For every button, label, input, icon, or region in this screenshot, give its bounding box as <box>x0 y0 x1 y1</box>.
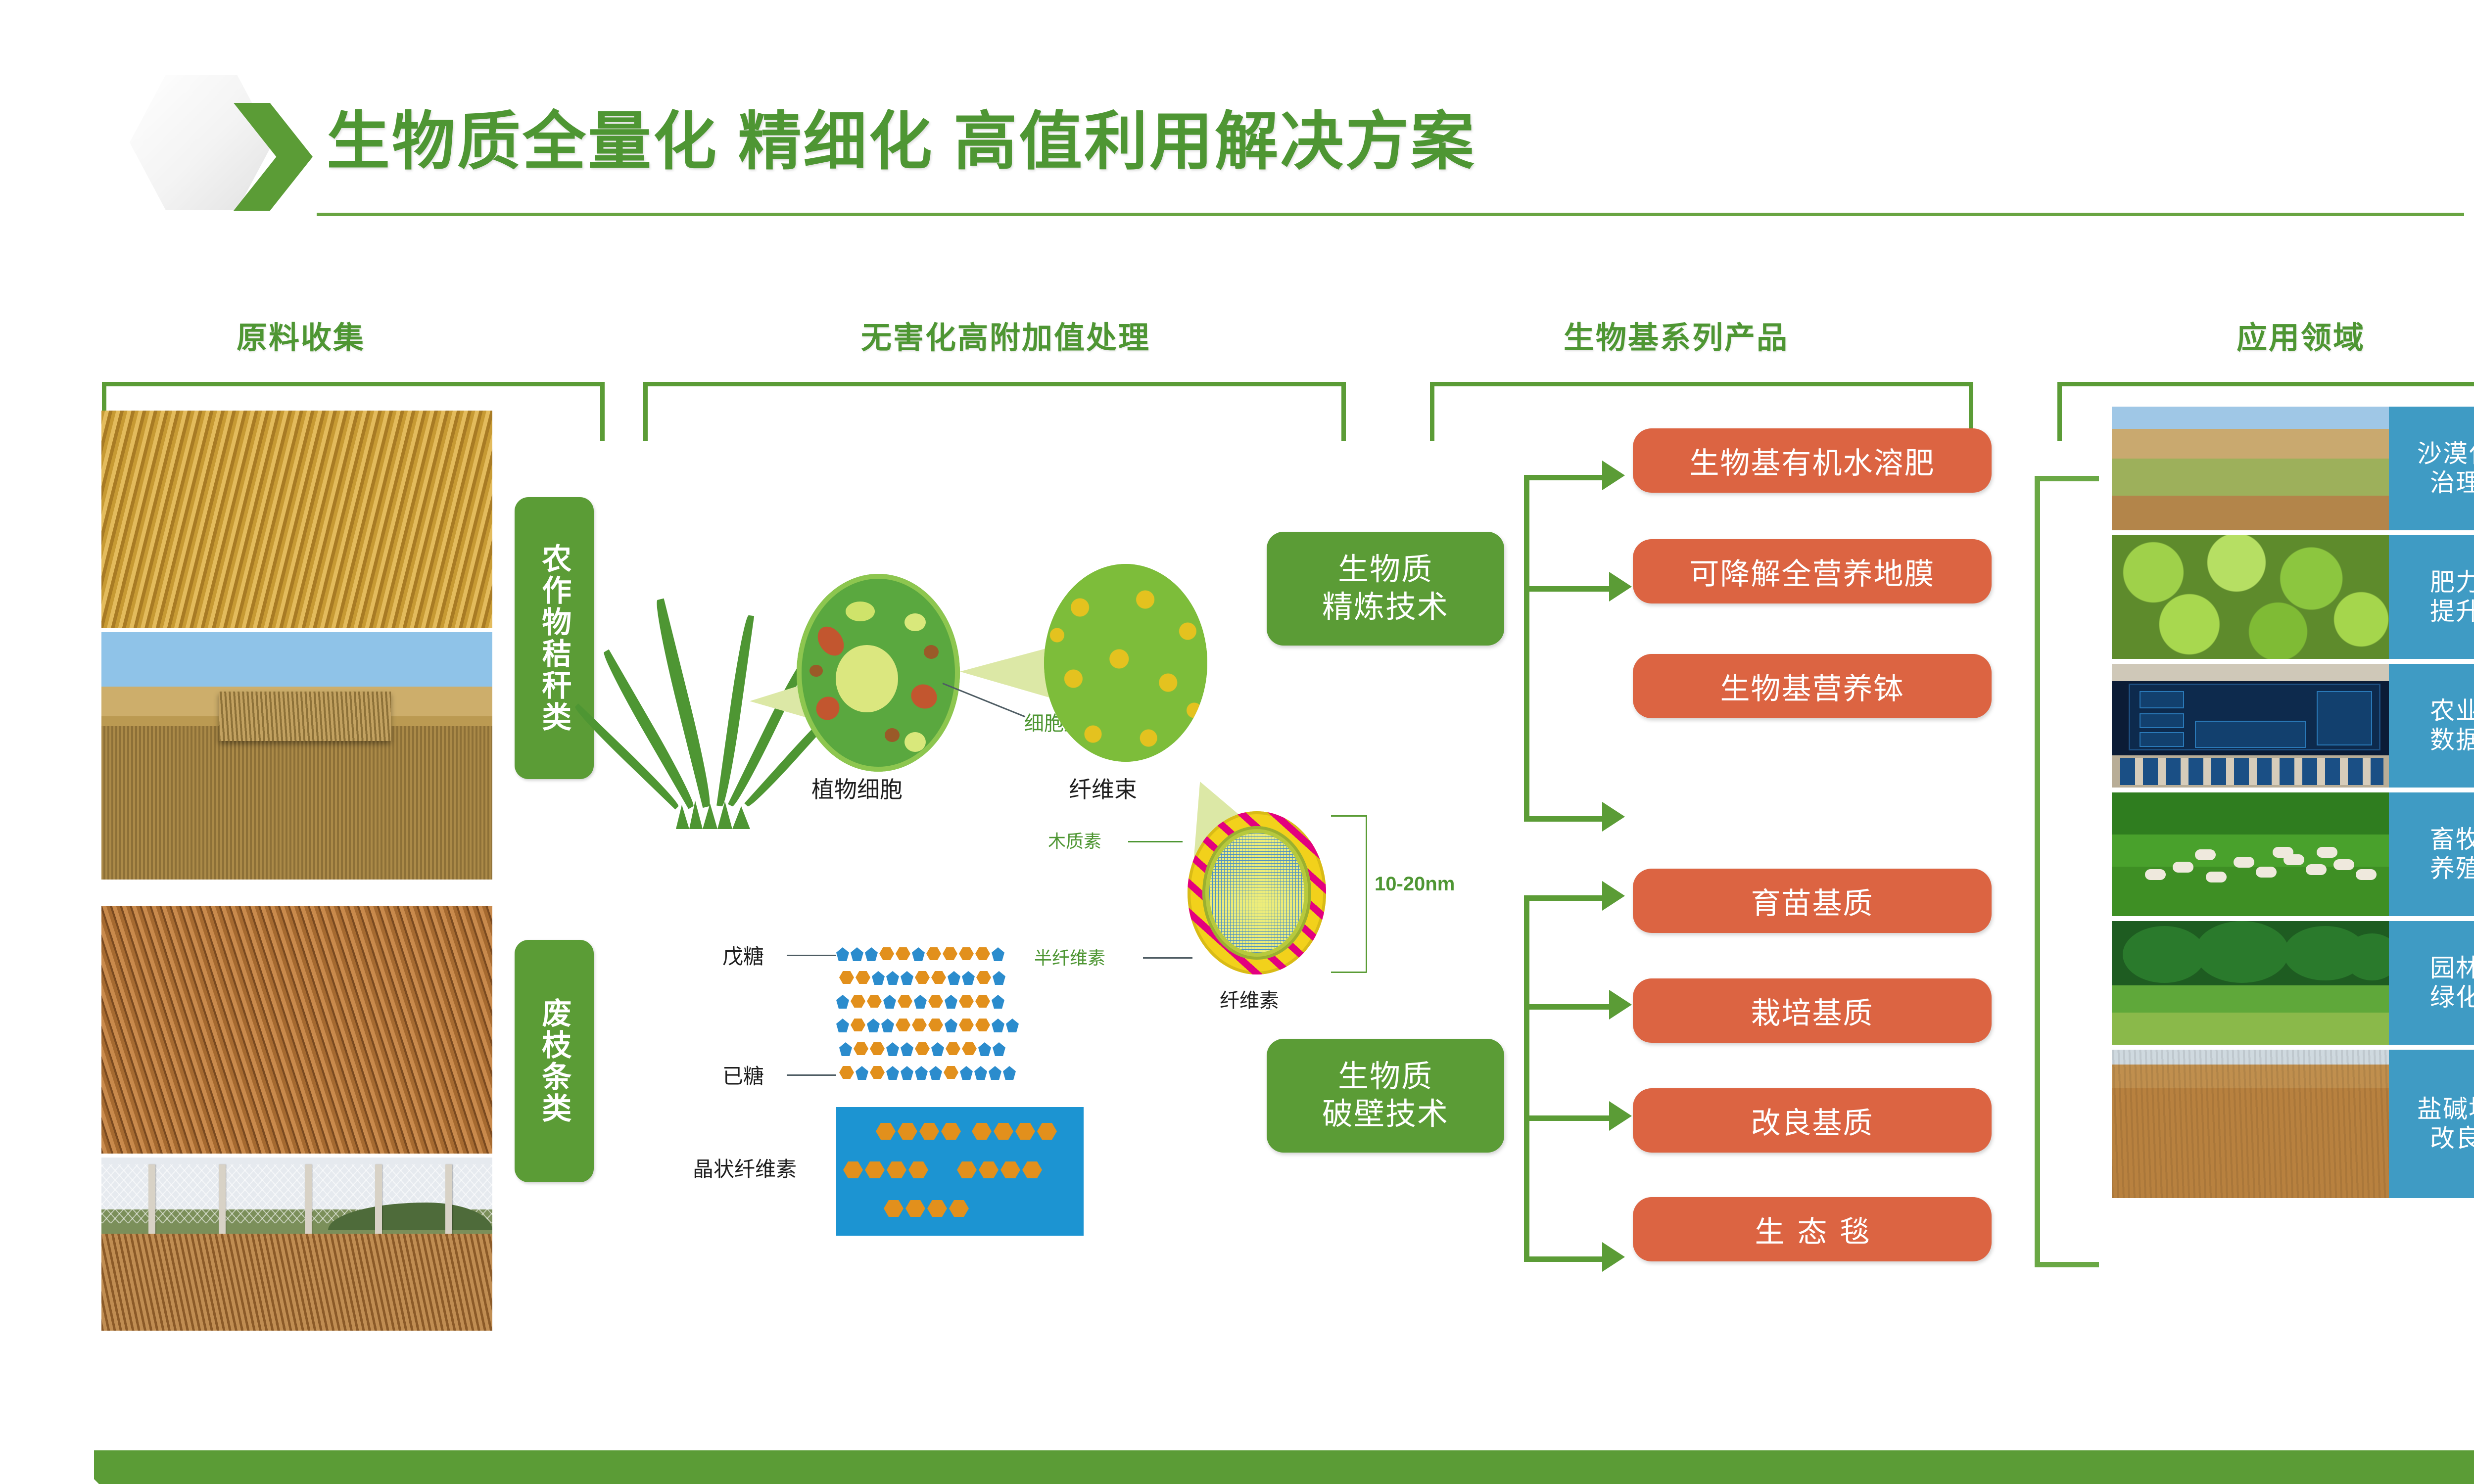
application-photo-desert-control <box>2112 407 2389 530</box>
section-title-applications: 应用领域 <box>2236 313 2365 357</box>
product-label: 生物基营养钵 <box>1720 665 1904 708</box>
label-lignin: 木质素 <box>1048 827 1101 853</box>
label-pentose: 戊糖 <box>722 940 764 970</box>
application-label-saline-land: 盐碱地改良 <box>2389 1050 2474 1198</box>
product-cultivation-substrate[interactable]: 栽培基质 <box>1633 978 1992 1043</box>
product-label: 栽培基质 <box>1751 989 1874 1032</box>
feedstock-photo-branches <box>101 906 492 1154</box>
footer-bar <box>94 1450 2474 1484</box>
crystalline-cellulose-panel <box>836 1107 1084 1236</box>
application-label-fertility: 肥力提升 <box>2389 535 2474 659</box>
arrow-r1 <box>1602 461 1625 490</box>
page-title: 生物质全量化 精细化 高值利用解决方案 <box>327 90 1476 182</box>
slide-canvas: 生物质全量化 精细化 高值利用解决方案 原料收集 无害化高附加值处理 生物基系列… <box>0 0 2474 1484</box>
label-hexose: 已糖 <box>722 1060 764 1090</box>
label-fiber-bundle: 纤维束 <box>1069 772 1137 804</box>
product-label: 生态毯 <box>1742 1208 1883 1251</box>
application-photo-livestock <box>2112 792 2389 916</box>
connector-branch-r2 <box>1524 586 1611 592</box>
feedstock-category-crop-straw: 农作物秸秆类 <box>515 497 594 779</box>
application-label-desert-control: 沙漠化治理 <box>2389 407 2474 530</box>
product-improvement-substrate[interactable]: 改良基质 <box>1633 1088 1992 1153</box>
bracket-products-to-applications <box>2035 476 2099 1267</box>
product-bio-water-soluble-fertilizer[interactable]: 生物基有机水溶肥 <box>1633 428 1992 493</box>
section-title-products: 生物基系列产品 <box>1564 313 1789 357</box>
application-photo-agri-data <box>2112 664 2389 788</box>
product-ecological-blanket[interactable]: 生态毯 <box>1633 1197 1992 1261</box>
application-photo-fertility <box>2112 535 2389 659</box>
footer-notch-left <box>0 1385 99 1484</box>
cellulose-fiber-illustration <box>1188 811 1326 974</box>
connector-branch-w3 <box>1524 1115 1611 1121</box>
title-underline <box>317 213 2464 216</box>
connector-trunk-refining <box>1524 475 1529 821</box>
product-label: 生物基有机水溶肥 <box>1690 439 1935 482</box>
application-label-landscaping: 园林绿化 <box>2389 921 2474 1045</box>
tech-line-1: 生物质 <box>1322 551 1449 589</box>
feedstock-category-waste-branch: 废枝条类 <box>515 940 594 1182</box>
tech-line-1: 生物质 <box>1322 1058 1449 1096</box>
feedstock-category-label: 废枝条类 <box>538 998 570 1124</box>
connector-trunk-wall <box>1524 895 1529 1261</box>
tech-box-refining[interactable]: 生物质 精炼技术 <box>1267 532 1504 646</box>
fiber-bundle-illustration <box>1044 564 1207 762</box>
arrow-w2 <box>1609 990 1632 1020</box>
section-title-feedstock: 原料收集 <box>237 313 365 357</box>
connector-branch-w1 <box>1524 895 1603 901</box>
connector-branch-r1 <box>1524 475 1603 480</box>
product-label: 育苗基质 <box>1751 880 1874 923</box>
tech-line-2: 精炼技术 <box>1322 589 1449 626</box>
feedstock-photo-straw-bale <box>101 632 492 880</box>
product-label: 改良基质 <box>1751 1099 1874 1142</box>
label-plant-cell: 植物细胞 <box>811 772 903 804</box>
feedstock-photo-orchard <box>101 1158 492 1331</box>
arrow-r3 <box>1602 802 1625 832</box>
connector-branch-r3 <box>1524 816 1603 822</box>
application-photo-landscaping <box>2112 921 2389 1045</box>
connector-branch-w4 <box>1524 1256 1603 1262</box>
application-photo-saline-land <box>2112 1050 2389 1198</box>
dimension-cap-top <box>1331 815 1367 817</box>
bracket-processing <box>643 382 1346 441</box>
product-degradable-nutrient-mulch-film[interactable]: 可降解全营养地膜 <box>1633 539 1992 603</box>
plant-cell-illustration <box>797 574 960 772</box>
lignin-leader-line <box>1128 841 1183 842</box>
grass-plant-icon <box>628 539 792 836</box>
feedstock-photo-corn-stover <box>101 411 492 628</box>
dimension-cap-bottom <box>1331 972 1367 973</box>
arrow-r2 <box>1609 572 1632 602</box>
section-title-processing: 无害化高附加值处理 <box>861 313 1150 357</box>
title-hexagon-badge <box>130 75 337 210</box>
arrow-w3 <box>1609 1101 1632 1131</box>
application-label-agri-data: 农业数据 <box>2389 664 2474 788</box>
product-bio-nutrient-pot[interactable]: 生物基营养钵 <box>1633 654 1992 718</box>
arrow-w4 <box>1602 1242 1625 1272</box>
arrow-w1 <box>1602 881 1625 911</box>
product-seedling-substrate[interactable]: 育苗基质 <box>1633 869 1992 933</box>
tech-box-wall-breaking[interactable]: 生物质 破壁技术 <box>1267 1039 1504 1153</box>
connector-branch-w2 <box>1524 1004 1611 1010</box>
label-crystalline-cellulose: 晶状纤维素 <box>693 1153 797 1183</box>
application-label-livestock: 畜牧养殖 <box>2389 792 2474 916</box>
hemicellulose-leader-line <box>1143 957 1192 959</box>
product-label: 可降解全营养地膜 <box>1690 550 1935 593</box>
sugar-chain-diagram <box>836 947 1049 1111</box>
feedstock-category-label: 农作物秸秆类 <box>538 543 570 733</box>
hexose-leader-line <box>787 1074 836 1076</box>
dimension-line <box>1366 815 1367 973</box>
label-cellulose: 纤维素 <box>1220 984 1279 1013</box>
label-fiber-dimension: 10-20nm <box>1375 873 1455 895</box>
pentose-leader-line <box>787 955 836 956</box>
tech-line-2: 破壁技术 <box>1322 1096 1449 1133</box>
